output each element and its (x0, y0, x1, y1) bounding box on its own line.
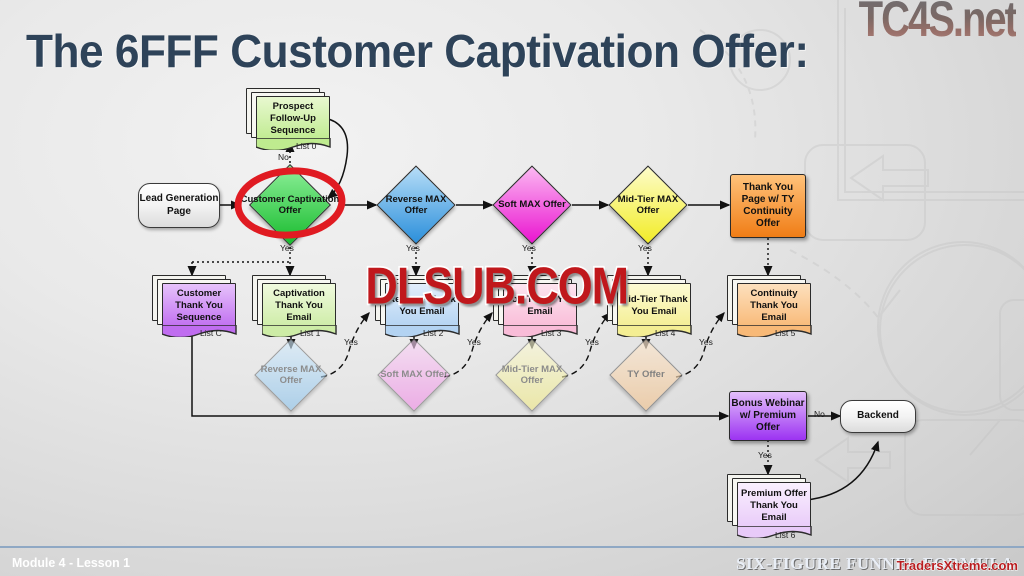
edge-label-yes-soft: Yes (522, 243, 536, 253)
edge-label-yes-e2: Yes (467, 337, 481, 347)
edge-label-no-top: No (278, 152, 289, 162)
node-label: Reverse MAX Offer (376, 177, 456, 233)
node-label: Soft MAX Offer (492, 177, 572, 233)
node-captivation-thank-you-email[interactable]: Captivation Thank You Email (252, 275, 336, 331)
node-thank-you-page[interactable]: Thank You Page w/ TY Continuity Offer (730, 174, 806, 238)
node-backend[interactable]: Backend (840, 400, 916, 433)
edge-label-yes-e3: Yes (585, 337, 599, 347)
list-label-3: List 3 (541, 328, 561, 338)
list-label-c: List C (200, 328, 222, 338)
list-label-4: List 4 (655, 328, 675, 338)
node-label: Prospect Follow-Up Sequence (256, 96, 330, 142)
footer-module-label: Module 4 - Lesson 1 (12, 555, 130, 570)
node-label: Mid-Tier MAX Offer (608, 177, 688, 233)
node-label: Continuity Thank You Email (737, 283, 811, 329)
node-prospect-follow-up-sequence[interactable]: Prospect Follow-Up Sequence (246, 88, 330, 144)
watermark-tc4s: TC4S.net (859, 0, 1016, 49)
page-title: The 6FFF Customer Captivation Offer: (26, 24, 809, 78)
node-premium-offer-thank-you-email[interactable]: Premium Offer Thank You Email (727, 474, 811, 532)
node-bonus-webinar[interactable]: Bonus Webinar w/ Premium Offer (729, 391, 807, 441)
list-label-1: List 1 (300, 328, 320, 338)
edge-label-yes-e4: Yes (699, 337, 713, 347)
list-label-6: List 6 (775, 530, 795, 540)
node-label: Mid-Tier Thank You Email (617, 283, 691, 329)
node-label: Soft MAX Offer (378, 348, 450, 402)
node-reverse-max-offer-faded[interactable]: Reverse MAX Offer (255, 348, 327, 402)
node-label: Customer Captivation Offer (240, 177, 340, 233)
footer-bar: Module 4 - Lesson 1 SIX-FIGURE FUNNEL FO… (0, 546, 1024, 576)
node-reverse-max-offer[interactable]: Reverse MAX Offer (376, 177, 456, 233)
node-label: Captivation Thank You Email (262, 283, 336, 329)
node-label: Customer Thank You Sequence (162, 283, 236, 329)
edge-label-yes-captivation: Yes (280, 243, 294, 253)
node-continuity-thank-you-email[interactable]: Continuity Thank You Email (727, 275, 811, 331)
node-label: Premium Offer Thank You Email (737, 482, 811, 530)
node-label: Mid-Tier MAX Offer (496, 348, 568, 402)
node-label: TY Offer (610, 348, 682, 402)
node-ty-offer-faded[interactable]: TY Offer (610, 348, 682, 402)
edge-label-yes-bonus: Yes (758, 450, 772, 460)
edge-label-yes-reverse: Yes (406, 243, 420, 253)
edge-label-yes-midtier: Yes (638, 243, 652, 253)
edge-label-yes-e1: Yes (344, 337, 358, 347)
node-mid-tier-max-offer-faded[interactable]: Mid-Tier MAX Offer (496, 348, 568, 402)
list-label-0: List 0 (296, 141, 316, 151)
node-customer-thank-you-sequence[interactable]: Customer Thank You Sequence (152, 275, 236, 331)
node-label: Reverse MAX Offer (255, 348, 327, 402)
watermark-dlsub: DLSUB.COM (365, 258, 628, 317)
node-soft-max-offer-faded[interactable]: Soft MAX Offer (378, 348, 450, 402)
list-label-5: List 5 (775, 328, 795, 338)
slide-canvas: The 6FFF Customer Captivation Offer: TC4… (0, 0, 1024, 576)
watermark-tradersxtreme: TradersXtreme.com (897, 558, 1018, 573)
node-mid-tier-max-offer[interactable]: Mid-Tier MAX Offer (608, 177, 688, 233)
node-lead-generation-page[interactable]: Lead Generation Page (138, 183, 220, 228)
node-soft-max-offer[interactable]: Soft MAX Offer (492, 177, 572, 233)
edge-label-no-bonus: No (814, 409, 825, 419)
list-label-2: List 2 (423, 328, 443, 338)
node-customer-captivation-offer[interactable]: Customer Captivation Offer (240, 177, 340, 233)
